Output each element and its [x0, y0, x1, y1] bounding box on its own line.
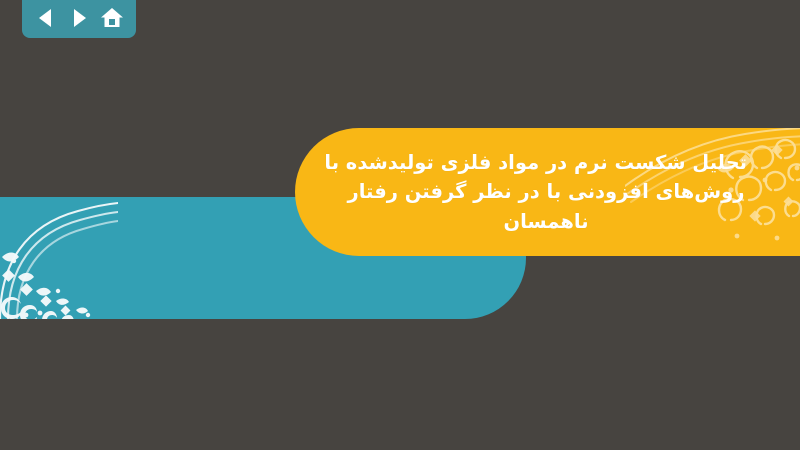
title-line-1: تحلیل شکست نرم در مواد فلزی تولیدشده با: [345, 148, 747, 178]
arabesque-corner-ornament-icon: [0, 197, 118, 319]
title-line-3: ناهمسان: [345, 207, 747, 237]
navigation-bar: [22, 0, 136, 38]
title-plate: تحلیل شکست نرم در مواد فلزی تولیدشده با …: [295, 128, 800, 256]
slide-title: تحلیل شکست نرم در مواد فلزی تولیدشده با …: [345, 148, 765, 237]
back-button[interactable]: [33, 5, 59, 31]
presentation-slide: تحلیل شکست نرم در مواد فلزی تولیدشده با …: [0, 0, 800, 450]
back-triangle-icon: [35, 7, 57, 29]
forward-button[interactable]: [66, 5, 92, 31]
home-icon: [100, 6, 124, 30]
title-line-2: روش‌های افزودنی با در نظر گرفتن رفتار: [345, 177, 747, 207]
home-button[interactable]: [99, 5, 125, 31]
forward-triangle-icon: [68, 7, 90, 29]
